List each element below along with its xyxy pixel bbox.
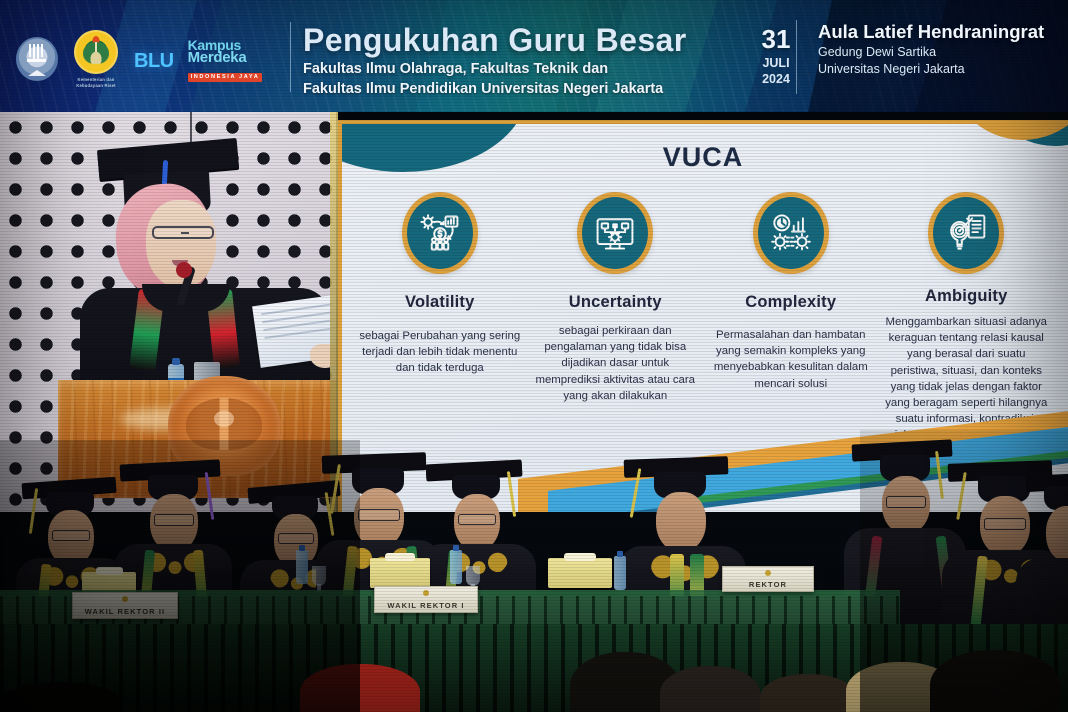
kemendikbud-logo: Kementerian dan Kebudayaan Riset <box>72 30 120 88</box>
kampus-merdeka-logo: Kampus Merdeka INDONESIA JAYA <box>188 39 263 84</box>
eyeglasses-icon <box>152 226 214 239</box>
nameplate-crest <box>122 596 128 602</box>
event-date-year: 2024 <box>748 72 804 87</box>
event-subtitle-line1: Fakultas Ilmu Olahraga, Fakultas Teknik … <box>303 60 687 79</box>
microphone-head <box>176 262 192 278</box>
blu-logo: BLU <box>134 50 174 73</box>
audience-head <box>660 666 760 712</box>
kemendikbud-caption: Kementerian dan Kebudayaan Riset <box>72 77 120 89</box>
kampus-merdeka-tagline: INDONESIA JAYA <box>188 73 263 82</box>
venue-institution: Universitas Negeri Jakarta <box>818 61 1044 78</box>
audience-head <box>300 664 420 712</box>
drinking-glass <box>312 566 326 586</box>
event-date-month: JULI <box>748 55 804 72</box>
event-subtitle-line2: Fakultas Ilmu Pendidikan Universitas Neg… <box>303 80 687 99</box>
nameplate-crest <box>765 570 771 576</box>
tissue-box <box>548 558 612 588</box>
nameplate-label: WAKIL REKTOR II <box>85 607 165 616</box>
audience-row <box>0 620 1068 712</box>
tissue-box <box>370 558 430 588</box>
screenshot-root: Kementerian dan Kebudayaan Riset BLU Kam… <box>0 0 1068 712</box>
water-bottle <box>296 550 308 584</box>
audience-head <box>930 650 1060 712</box>
event-banner: Kementerian dan Kebudayaan Riset BLU Kam… <box>0 0 1068 112</box>
nameplate-wakil-rektor-2: WAKIL REKTOR II <box>72 592 178 619</box>
event-date-day: 31 <box>748 26 804 52</box>
tut-wuri-handayani-logo <box>16 37 58 81</box>
banner-divider <box>290 22 291 92</box>
nameplate-label: REKTOR <box>749 580 787 589</box>
drinking-glass <box>466 566 480 586</box>
nameplate-crest <box>423 590 429 596</box>
water-bottle <box>450 550 462 584</box>
nameplate-wakil-rektor-1: WAKIL REKTOR I <box>374 586 478 613</box>
banner-title-block: Pengukuhan Guru Besar Fakultas Ilmu Olah… <box>303 24 687 99</box>
venue-building: Gedung Dewi Sartika <box>818 44 1044 61</box>
nameplate-label: WAKIL REKTOR I <box>387 601 464 610</box>
audience-head <box>760 674 856 712</box>
event-venue: Aula Latief Hendraningrat Gedung Dewi Sa… <box>818 22 1044 78</box>
kampus-merdeka-line2: Merdeka <box>188 51 263 65</box>
audience-head <box>0 682 120 712</box>
event-title: Pengukuhan Guru Besar <box>303 24 687 58</box>
venue-hall: Aula Latief Hendraningrat <box>818 22 1044 42</box>
nameplate-rektor: REKTOR <box>722 566 814 592</box>
water-bottle <box>614 556 626 590</box>
logo-strip: Kementerian dan Kebudayaan Riset BLU Kam… <box>16 30 262 88</box>
event-date: 31 JULI 2024 <box>748 26 804 87</box>
